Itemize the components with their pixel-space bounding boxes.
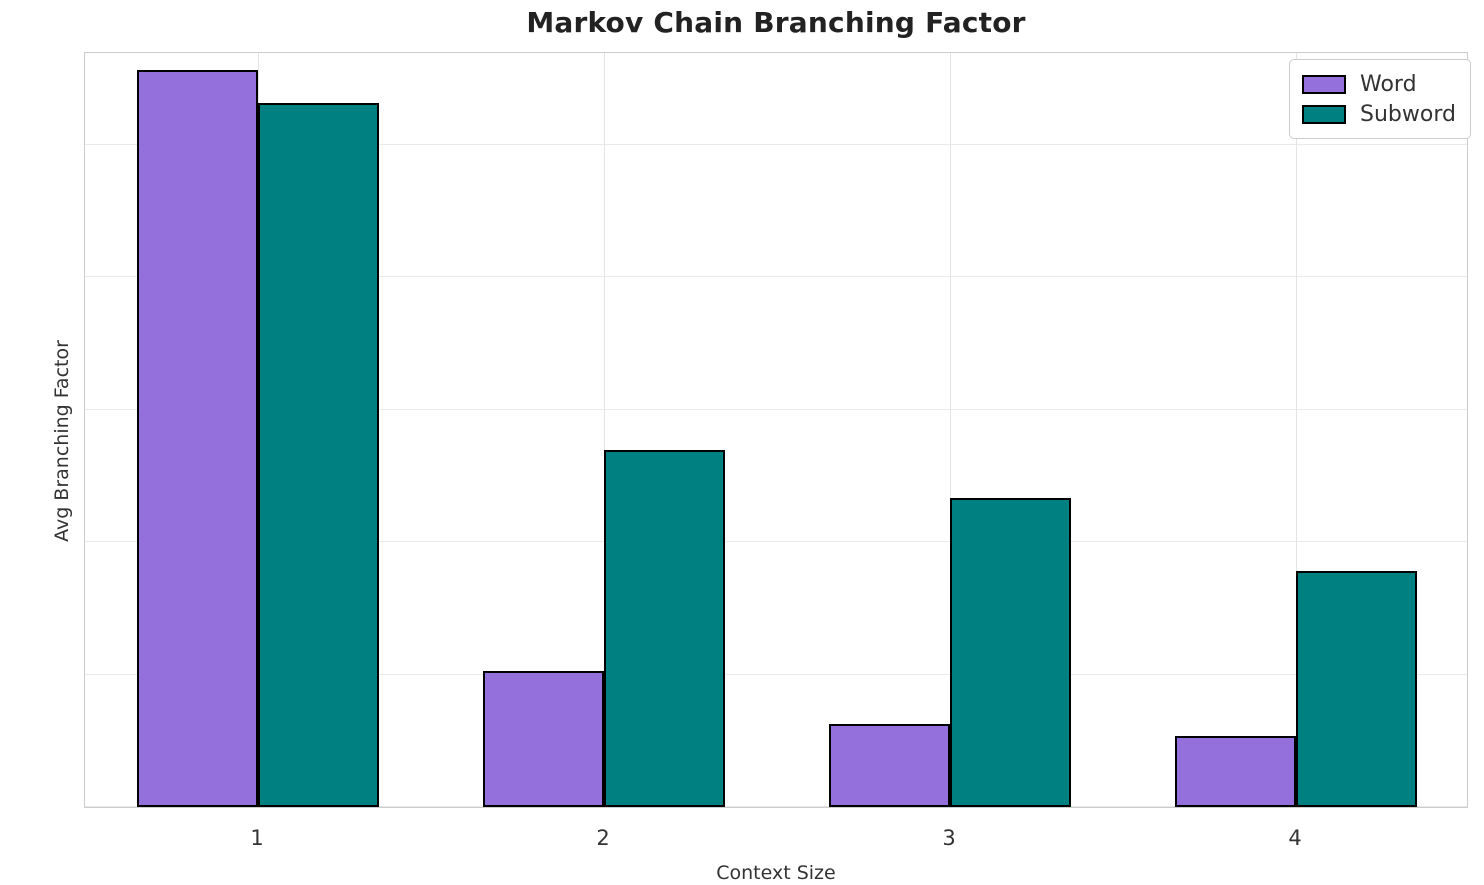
page-title: Markov Chain Branching Factor — [84, 6, 1468, 39]
bar-subword-ctx-3 — [950, 498, 1071, 807]
legend-swatch-word-icon — [1302, 75, 1346, 94]
legend-item-word[interactable]: Word — [1302, 69, 1456, 99]
bar-word-ctx-1 — [137, 70, 258, 807]
legend: Word Subword — [1289, 59, 1471, 139]
legend-label-word: Word — [1360, 72, 1417, 97]
x-tick-label-2: 2 — [543, 826, 663, 850]
bar-word-ctx-3 — [829, 724, 950, 807]
x-tick-label-3: 3 — [889, 826, 1009, 850]
y-axis-label: Avg Branching Factor — [51, 291, 73, 591]
x-tick-label-4: 4 — [1235, 826, 1355, 850]
x-tick-label-1: 1 — [197, 826, 317, 850]
legend-item-subword[interactable]: Subword — [1302, 99, 1456, 129]
bar-word-ctx-4 — [1175, 736, 1296, 807]
bar-subword-ctx-2 — [604, 450, 725, 807]
legend-swatch-subword-icon — [1302, 105, 1346, 124]
bar-word-ctx-2 — [483, 671, 604, 807]
legend-label-subword: Subword — [1360, 102, 1456, 127]
bar-subword-ctx-1 — [258, 103, 379, 807]
bar-subword-ctx-4 — [1296, 571, 1417, 807]
plot-area — [84, 52, 1468, 808]
x-axis-label: Context Size — [84, 862, 1468, 884]
chart-figure: Markov Chain Branching Factor 0246810 12… — [0, 0, 1484, 885]
